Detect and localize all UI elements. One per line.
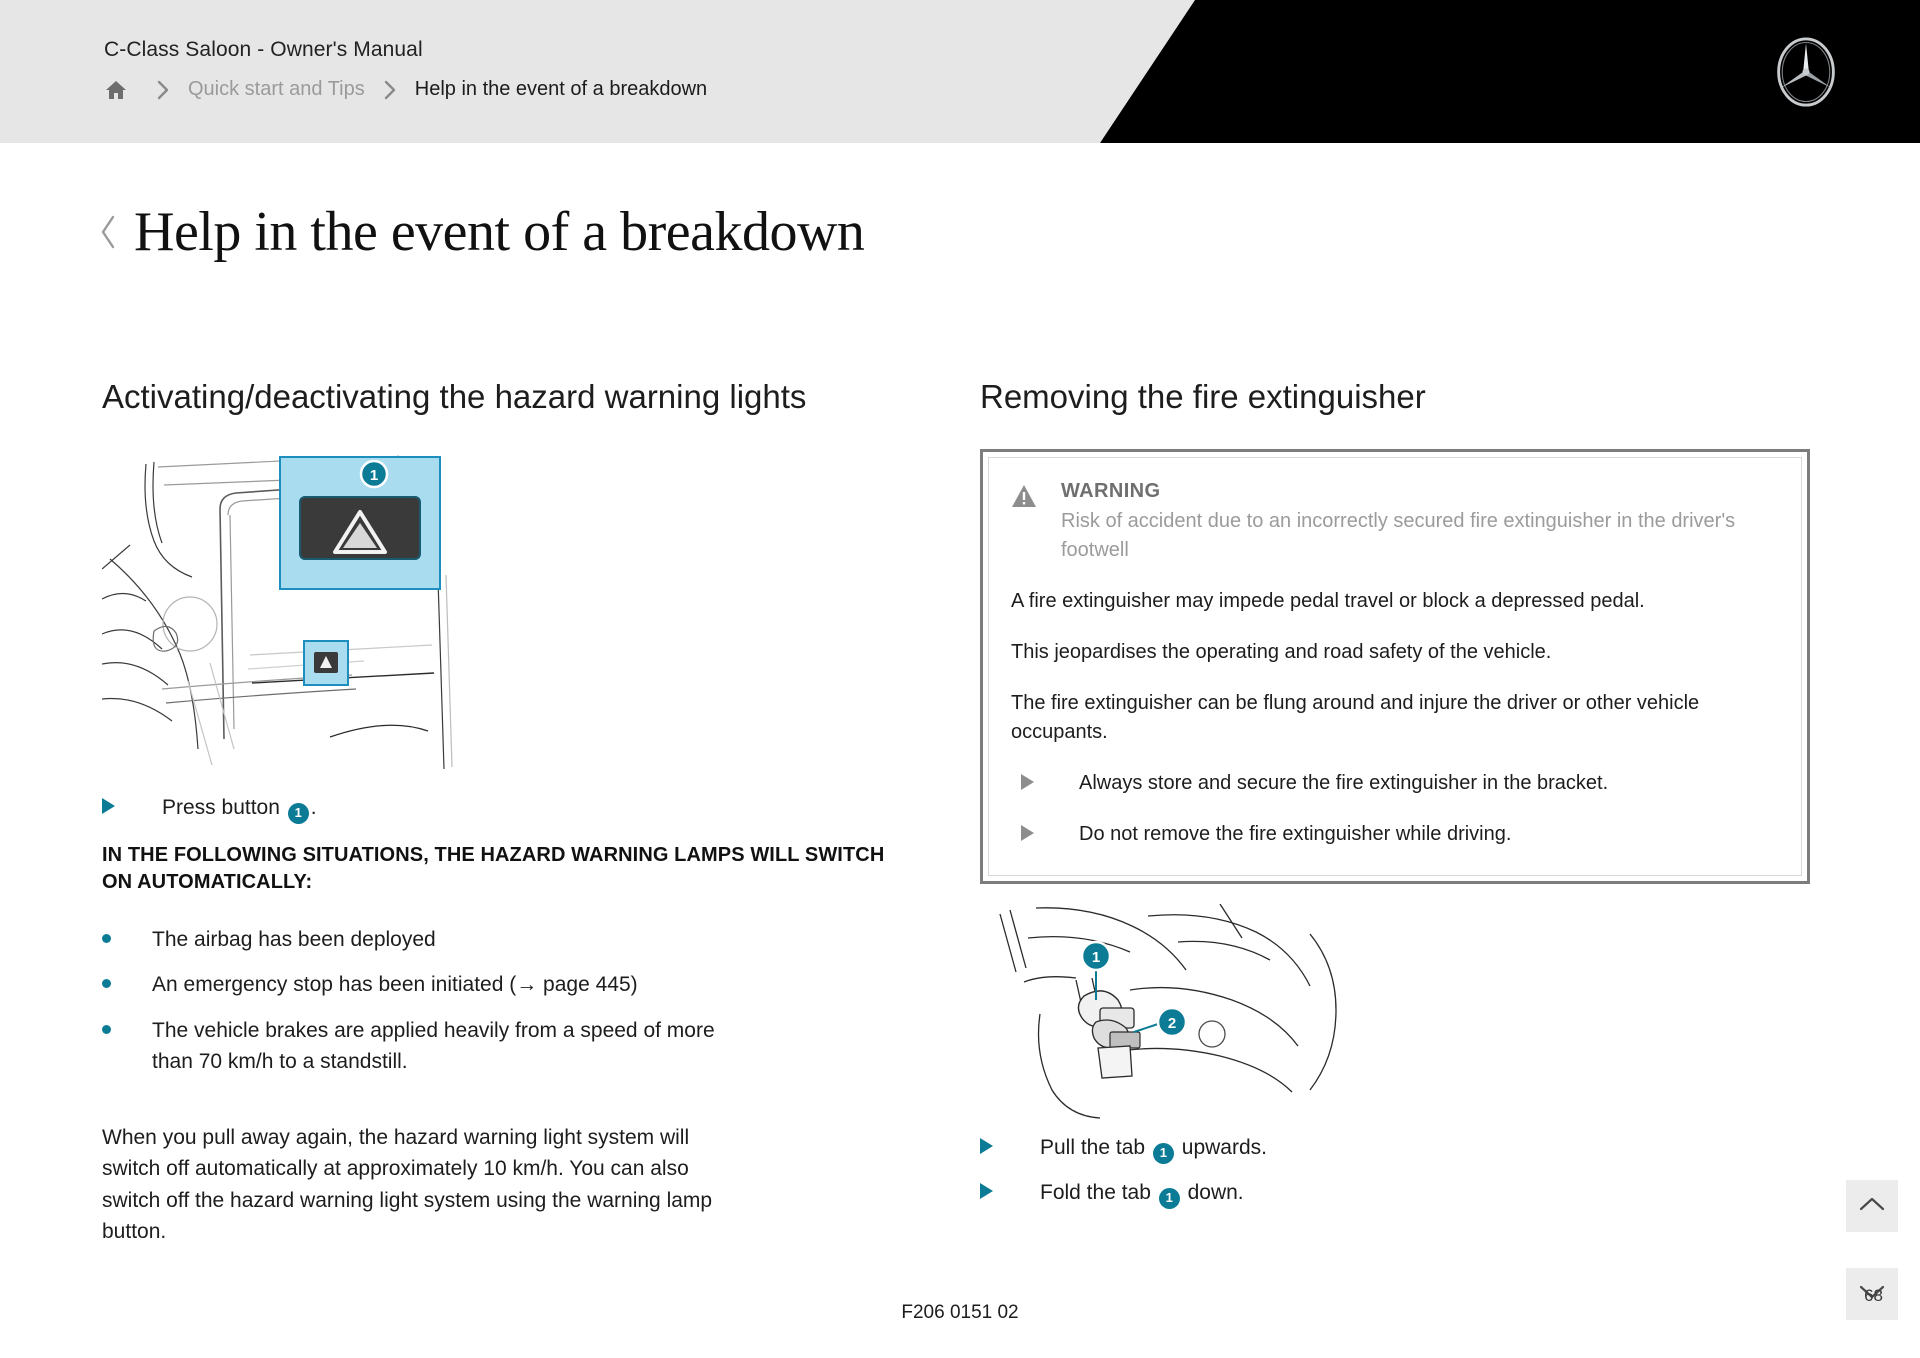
triangle-bullet-icon bbox=[980, 1178, 1040, 1199]
dot-bullet-icon bbox=[102, 969, 152, 988]
manual-page: C-Class Saloon - Owner's Manual Quick st… bbox=[0, 0, 1920, 1358]
step-press-button: Press button 1. bbox=[102, 793, 892, 824]
home-icon[interactable] bbox=[104, 79, 138, 101]
breadcrumb-item-current: Help in the event of a breakdown bbox=[415, 78, 707, 101]
step-text: Pull the tab 1 upwards. bbox=[1040, 1133, 1267, 1164]
section-heading-extinguisher: Removing the fire extinguisher bbox=[980, 378, 1810, 417]
warning-paragraph: A fire extinguisher may impede pedal tra… bbox=[1011, 587, 1775, 616]
warning-step: Always store and secure the fire extingu… bbox=[1011, 769, 1775, 798]
step-text-before: Pull the tab bbox=[1040, 1136, 1145, 1159]
step-text-before: Press button bbox=[162, 796, 280, 819]
callout-number-1: 1 bbox=[1153, 1143, 1174, 1164]
warning-paragraph: This jeopardises the operating and road … bbox=[1011, 638, 1775, 667]
triangle-bullet-icon bbox=[980, 1133, 1040, 1154]
warning-label: WARNING bbox=[1061, 480, 1775, 503]
left-column: Activating/deactivating the hazard warni… bbox=[102, 378, 892, 1248]
warning-paragraph: The fire extinguisher can be flung aroun… bbox=[1011, 689, 1775, 747]
step-fold-tab: Fold the tab 1 down. bbox=[980, 1178, 1810, 1209]
chevron-right-icon-1 bbox=[138, 79, 188, 101]
list-item: The airbag has been deployed bbox=[102, 924, 892, 956]
warning-header: WARNING Risk of accident due to an incor… bbox=[1011, 480, 1775, 565]
step-text: Fold the tab 1 down. bbox=[1040, 1178, 1244, 1209]
warning-triangle-icon bbox=[1011, 480, 1061, 513]
warning-subtitle: Risk of accident due to an incorrectly s… bbox=[1061, 507, 1775, 565]
list-item: The vehicle brakes are applied heavily f… bbox=[102, 1015, 892, 1078]
triangle-bullet-icon bbox=[102, 793, 162, 814]
step-text-after: down. bbox=[1188, 1181, 1244, 1204]
emphasis-heading: IN THE FOLLOWING SITUATIONS, THE HAZARD … bbox=[102, 842, 892, 896]
page-number: 68 bbox=[1864, 1286, 1883, 1306]
list-item: An emergency stop has been initiated (→ … bbox=[102, 969, 892, 1001]
warning-step-text: Do not remove the fire extinguisher whil… bbox=[1079, 820, 1511, 849]
step-text-after: upwards. bbox=[1182, 1136, 1267, 1159]
dot-bullet-icon bbox=[102, 1015, 152, 1034]
manual-title: C-Class Saloon - Owner's Manual bbox=[104, 38, 423, 62]
svg-text:1: 1 bbox=[370, 467, 378, 484]
dot-bullet-icon bbox=[102, 924, 152, 943]
scroll-up-button[interactable] bbox=[1846, 1180, 1898, 1232]
callout-number-1: 1 bbox=[1159, 1188, 1180, 1209]
triangle-bullet-icon bbox=[1021, 820, 1079, 841]
chevron-right-icon-2 bbox=[365, 79, 415, 101]
svg-text:2: 2 bbox=[1168, 1015, 1176, 1032]
list-item-text: The airbag has been deployed bbox=[152, 924, 436, 956]
chevron-up-icon bbox=[1859, 1196, 1885, 1217]
page-header: C-Class Saloon - Owner's Manual Quick st… bbox=[0, 0, 1920, 143]
mercedes-benz-star-logo bbox=[1770, 36, 1842, 108]
step-pull-tab: Pull the tab 1 upwards. bbox=[980, 1133, 1810, 1164]
list-item-text: An emergency stop has been initiated (→ … bbox=[152, 969, 638, 1001]
right-column: Removing the fire extinguisher WARNING R… bbox=[980, 378, 1810, 1223]
chevron-left-icon[interactable] bbox=[98, 212, 118, 257]
fire-extinguisher-bracket-illustration: 1 2 bbox=[980, 904, 1370, 1119]
step-text: Press button 1. bbox=[162, 793, 317, 824]
warning-box-inner: WARNING Risk of accident due to an incor… bbox=[988, 457, 1802, 876]
breadcrumb-item-quick-start[interactable]: Quick start and Tips bbox=[188, 78, 365, 101]
step-text-after: . bbox=[311, 796, 317, 819]
dashboard-hazard-button-illustration: 1 bbox=[102, 449, 522, 779]
figure-code: F206 0151 02 bbox=[0, 1302, 1920, 1324]
svg-text:1: 1 bbox=[1092, 949, 1100, 966]
page-title-row: Help in the event of a breakdown bbox=[98, 200, 864, 264]
section-heading-hazard: Activating/deactivating the hazard warni… bbox=[102, 378, 892, 417]
callout-number-1: 1 bbox=[288, 803, 309, 824]
breadcrumb: Quick start and Tips Help in the event o… bbox=[104, 78, 707, 101]
closing-paragraph: When you pull away again, the hazard war… bbox=[102, 1122, 742, 1248]
page-title: Help in the event of a breakdown bbox=[134, 200, 864, 264]
warning-step-text: Always store and secure the fire extingu… bbox=[1079, 769, 1608, 798]
warning-step: Do not remove the fire extinguisher whil… bbox=[1011, 820, 1775, 849]
list-item-text: The vehicle brakes are applied heavily f… bbox=[152, 1015, 752, 1078]
step-text-before: Fold the tab bbox=[1040, 1181, 1151, 1204]
triangle-bullet-icon bbox=[1021, 769, 1079, 790]
warning-box: WARNING Risk of accident due to an incor… bbox=[980, 449, 1810, 884]
